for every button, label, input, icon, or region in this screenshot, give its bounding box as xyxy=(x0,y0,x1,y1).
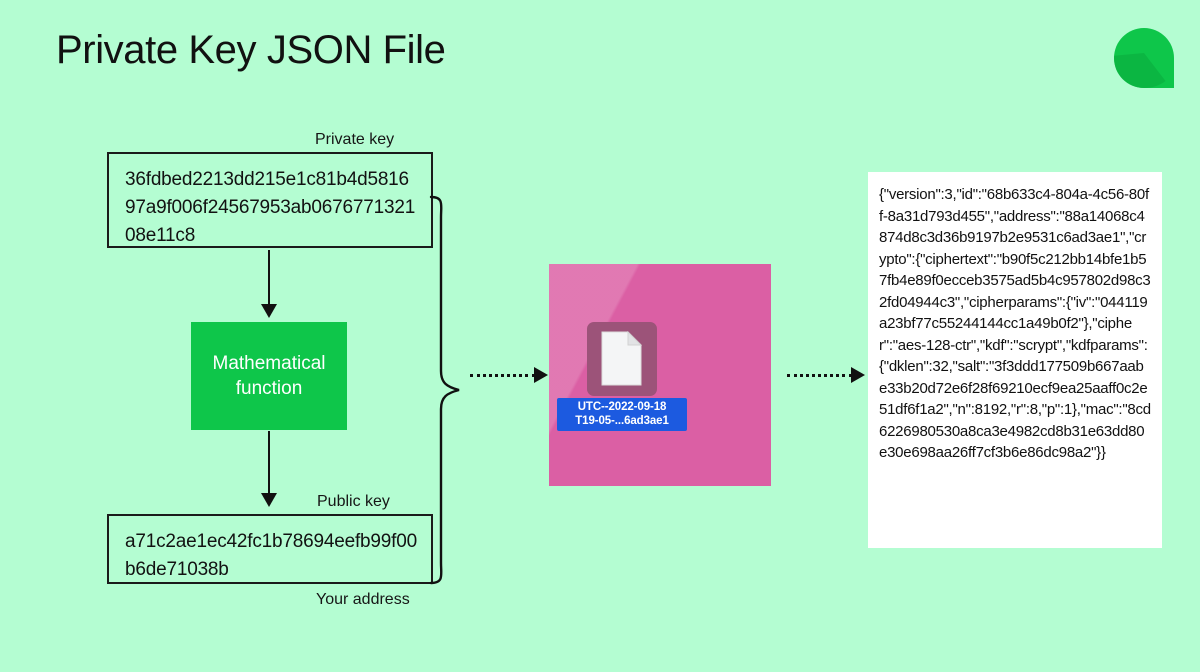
json-file-panel: {"version":3,"id":"68b633c4-804a-4c56-80… xyxy=(868,172,1162,548)
diagram-canvas: Private Key JSON File Private key 36fdbe… xyxy=(0,0,1200,672)
brace-connector xyxy=(428,195,462,585)
dotted-line xyxy=(470,374,535,377)
arrow-private-key-to-function xyxy=(268,250,270,306)
file-label-line2: T19-05-...6ad3ae1 xyxy=(557,414,687,428)
file-label-line1: UTC--2022-09-18 xyxy=(557,400,687,414)
private-key-caption: Private key xyxy=(315,131,394,149)
page-title: Private Key JSON File xyxy=(56,28,446,73)
public-key-box: a71c2ae1ec42fc1b78694eefb99f00b6de71038b xyxy=(107,514,433,584)
logo-teardrop-mountain-icon xyxy=(1113,27,1175,89)
arrow-keys-to-file xyxy=(470,368,548,382)
public-key-caption: Public key xyxy=(317,493,390,511)
function-label-line1: Mathematical xyxy=(213,351,326,376)
arrow-function-to-public-key xyxy=(268,431,270,495)
desktop-panel: UTC--2022-09-18 T19-05-...6ad3ae1 xyxy=(549,264,771,486)
file-icon-label[interactable]: UTC--2022-09-18 T19-05-...6ad3ae1 xyxy=(557,398,687,431)
arrow-head xyxy=(851,367,865,383)
mathematical-function-box: Mathematical function xyxy=(191,322,347,430)
arrow-file-to-json xyxy=(787,368,865,382)
file-icon-tile[interactable] xyxy=(587,322,657,396)
document-file-icon xyxy=(601,331,642,386)
private-key-box: 36fdbed2213dd215e1c81b4d581697a9f006f245… xyxy=(107,152,433,248)
json-file-content: {"version":3,"id":"68b633c4-804a-4c56-80… xyxy=(879,184,1151,464)
arrow-head xyxy=(534,367,548,383)
function-label-line2: function xyxy=(213,376,326,401)
your-address-caption: Your address xyxy=(316,591,410,609)
dotted-line xyxy=(787,374,852,377)
